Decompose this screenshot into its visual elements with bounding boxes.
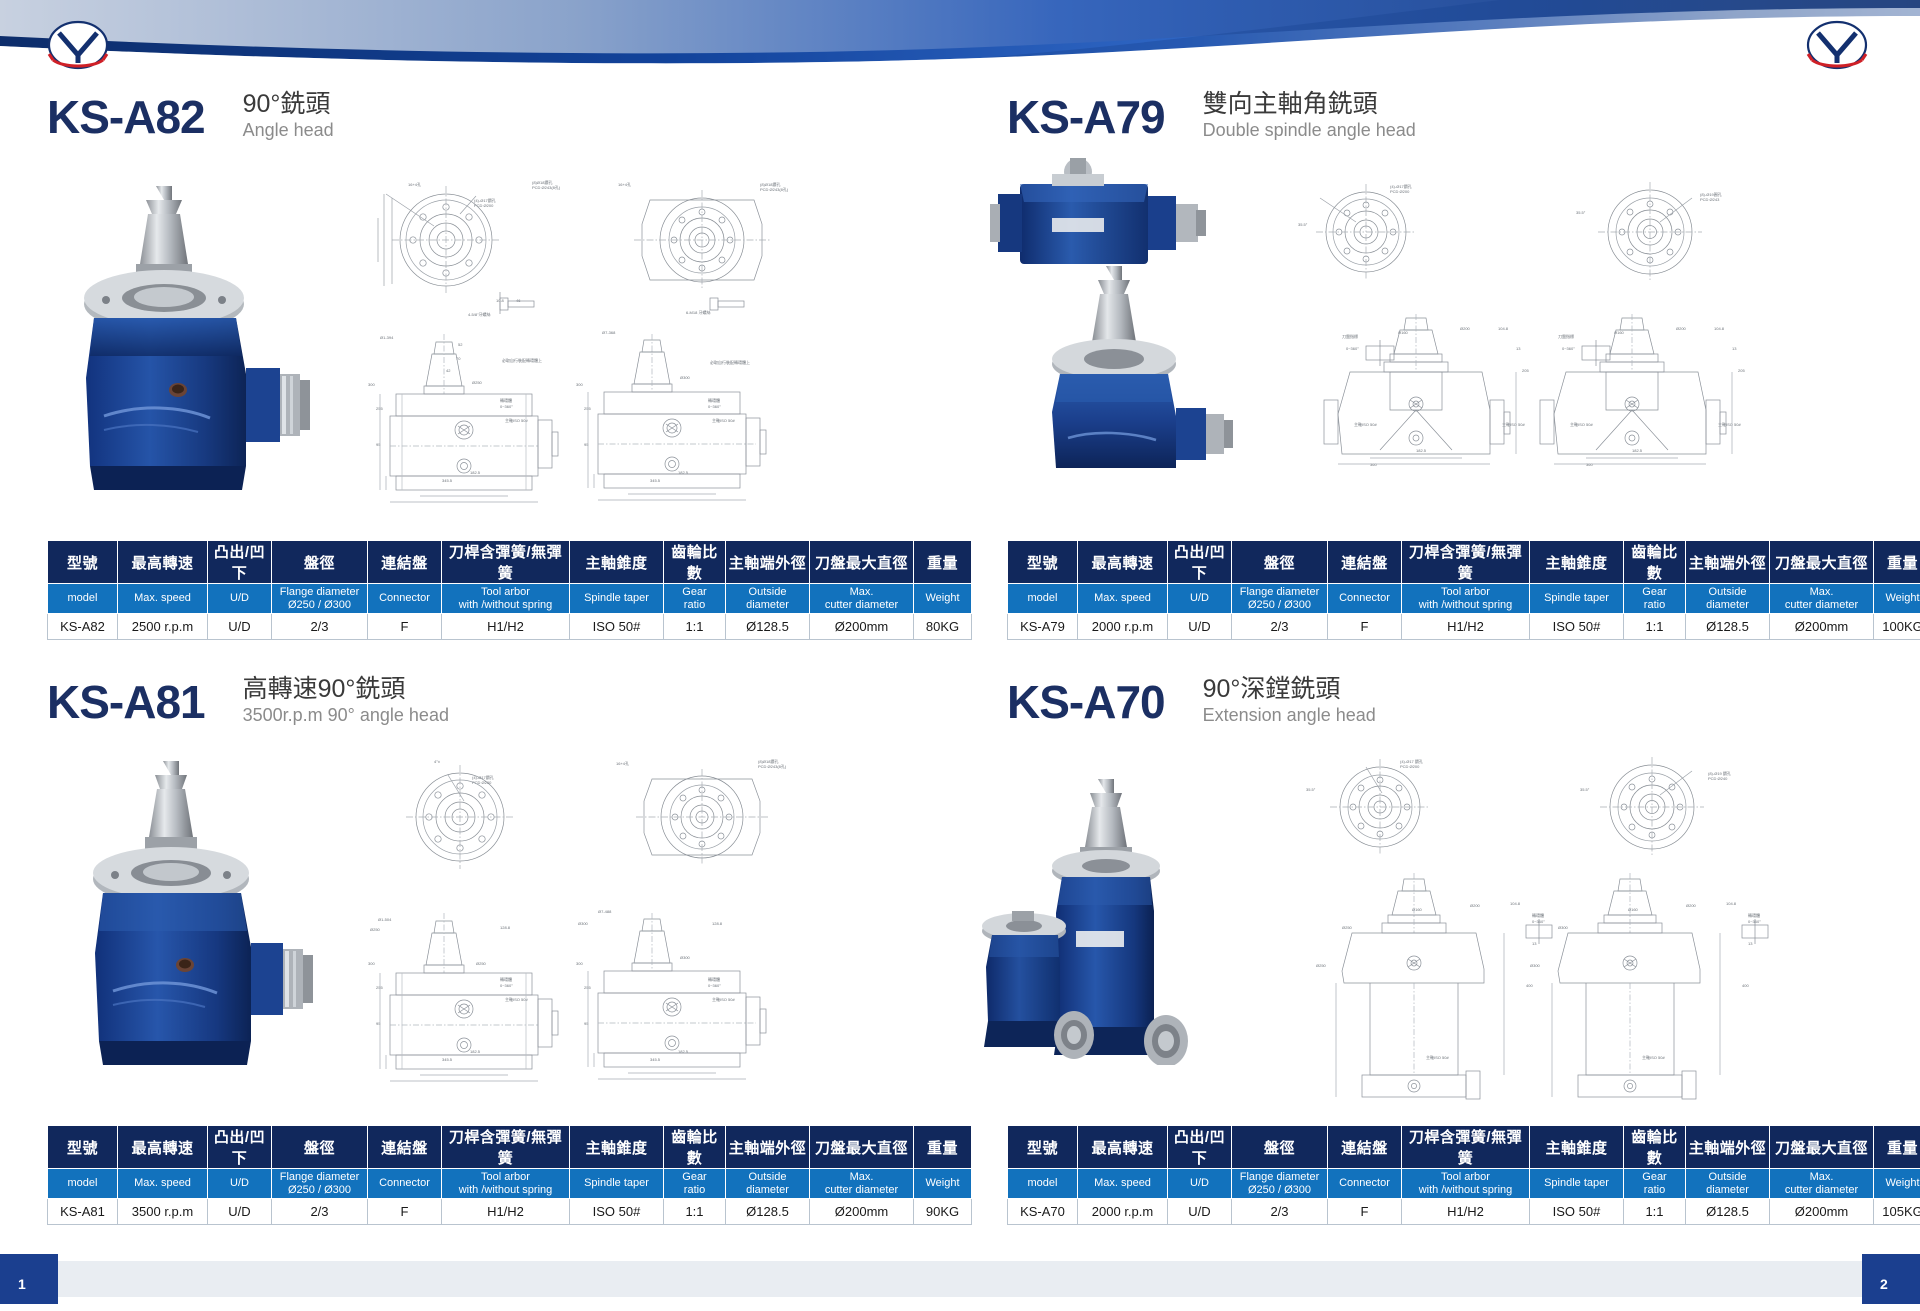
product-title-en: 3500r.p.m 90° angle head bbox=[243, 704, 449, 726]
th-en-ud: U/D bbox=[208, 584, 272, 614]
product-block-ks-a82: KS-A82 90°銑頭 Angle head bbox=[0, 78, 960, 663]
table-row: KS-A79 2000 r.p.m U/D 2/3 F H1/H2 ISO 50… bbox=[1008, 614, 1920, 640]
th-cn-outside: 主軸端外徑 bbox=[726, 541, 810, 584]
td-outside: Ø128.5 bbox=[1686, 614, 1770, 640]
svg-text:13: 13 bbox=[1748, 941, 1753, 946]
technical-drawing-ks-a81: 4°± (4)-Ø17鑽孔 PCD Ø200 16+4孔 (8)Ø18鑽孔 PC… bbox=[350, 753, 930, 1123]
svg-text:400: 400 bbox=[1526, 983, 1533, 988]
product-title-ks-a70: KS-A70 90°深鏜銑頭 Extension angle head bbox=[1007, 675, 1376, 728]
svg-text:0~360°: 0~360° bbox=[1346, 346, 1359, 351]
svg-text:0~360°: 0~360° bbox=[1562, 346, 1575, 351]
product-title-ks-a81: KS-A81 高轉速90°銑頭 3500r.p.m 90° angle head bbox=[47, 675, 449, 728]
svg-text:360: 360 bbox=[1370, 462, 1377, 467]
technical-drawing-ks-a82: 16+4孔 (8)Ø18鑽孔 PCD Ø243(8孔) (4)-Ø17鑽孔 PC… bbox=[350, 174, 930, 544]
page-header-banner bbox=[0, 0, 1920, 74]
svg-text:35.5°: 35.5° bbox=[1576, 210, 1586, 215]
svg-text:PCD Ø243: PCD Ø243 bbox=[1700, 197, 1720, 202]
svg-text:Ø200: Ø200 bbox=[1460, 326, 1471, 331]
svg-text:42: 42 bbox=[446, 368, 451, 373]
svg-text:345.5: 345.5 bbox=[650, 478, 661, 483]
th-cn-outside: 主軸端外徑 bbox=[1686, 541, 1770, 584]
product-title-ks-a82: KS-A82 90°銑頭 Angle head bbox=[47, 90, 334, 143]
product-title-ks-a79: KS-A79 雙向主軸角銑頭 Double spindle angle head bbox=[1007, 90, 1416, 143]
product-title-cn: 雙向主軸角銑頭 bbox=[1203, 90, 1416, 119]
th-en-gear: Gear ratio bbox=[664, 584, 726, 614]
svg-text:52: 52 bbox=[458, 342, 463, 347]
product-code: KS-A81 bbox=[47, 676, 205, 728]
th-cn-flange: 盤徑 bbox=[272, 541, 368, 584]
svg-text:35.5°: 35.5° bbox=[1306, 787, 1316, 792]
product-block-ks-a81: KS-A81 高轉速90°銑頭 3500r.p.m 90° angle head bbox=[0, 663, 960, 1248]
td-connector: F bbox=[1328, 1199, 1402, 1225]
th-cn-model: 型號 bbox=[48, 1126, 118, 1169]
svg-text:Ø1-394: Ø1-394 bbox=[380, 335, 394, 340]
spec-table-ks-a81: 型號 最高轉速 凸出/凹下 盤徑 連結盤 刀桿含彈簧/無彈簧 主軸錐度 齒輪比數… bbox=[47, 1125, 972, 1225]
th-cn-taper: 主軸錐度 bbox=[570, 541, 664, 584]
td-arbor: H1/H2 bbox=[442, 1199, 570, 1225]
svg-text:主軸ISO 50#: 主軸ISO 50# bbox=[1718, 421, 1741, 427]
svg-text:95: 95 bbox=[376, 442, 381, 447]
table-header-cn: 型號 最高轉速 凸出/凹下 盤徑 連結盤 刀桿含彈簧/無彈簧 主軸錐度 齒輪比數… bbox=[48, 541, 972, 584]
td-arbor: H1/H2 bbox=[442, 614, 570, 640]
svg-text:Ø250: Ø250 bbox=[472, 380, 483, 385]
svg-text:182.5: 182.5 bbox=[1632, 448, 1643, 453]
td-outside: Ø128.5 bbox=[726, 1199, 810, 1225]
product-title-en: Extension angle head bbox=[1203, 704, 1376, 726]
th-en-taper: Spindle taper bbox=[570, 1169, 664, 1199]
footer-tab-left bbox=[0, 1254, 58, 1304]
td-model: KS-A70 bbox=[1008, 1199, 1078, 1225]
th-cn-speed: 最高轉速 bbox=[118, 541, 208, 584]
th-en-weight: Weight bbox=[1874, 584, 1920, 614]
td-flange: 2/3 bbox=[272, 614, 368, 640]
spec-table-ks-a79: 型號 最高轉速 凸出/凹下 盤徑 連結盤 刀桿含彈簧/無彈簧 主軸錐度 齒輪比數… bbox=[1007, 540, 1920, 640]
svg-text:轉環體: 轉環體 bbox=[1532, 912, 1544, 918]
th-cn-model: 型號 bbox=[48, 541, 118, 584]
th-cn-gear: 齒輪比數 bbox=[1624, 541, 1686, 584]
svg-text:PCD Ø240: PCD Ø240 bbox=[1708, 776, 1728, 781]
th-cn-cutter: 刀盤最大直徑 bbox=[810, 1126, 914, 1169]
td-connector: F bbox=[368, 1199, 442, 1225]
svg-text:必取自行裝配轉環體上: 必取自行裝配轉環體上 bbox=[710, 359, 750, 365]
svg-text:0~360°: 0~360° bbox=[500, 983, 513, 988]
td-cutter: Ø200mm bbox=[810, 614, 914, 640]
th-en-ud: U/D bbox=[208, 1169, 272, 1199]
spec-table-ks-a82: 型號 最高轉速 凸出/凹下 盤徑 連結盤 刀桿含彈簧/無彈簧 主軸錐度 齒輪比數… bbox=[47, 540, 972, 640]
th-cn-speed: 最高轉速 bbox=[1078, 1126, 1168, 1169]
svg-text:主軸ISO 50#: 主軸ISO 50# bbox=[1426, 1054, 1449, 1060]
th-en-arbor: Tool arbor with /without spring bbox=[1402, 584, 1530, 614]
td-ud: U/D bbox=[208, 614, 272, 640]
svg-text:PCD Ø243(8孔): PCD Ø243(8孔) bbox=[532, 184, 561, 190]
th-en-outside: Outside diameter bbox=[1686, 1169, 1770, 1199]
svg-text:Ø1-504: Ø1-504 bbox=[378, 917, 392, 922]
th-en-taper: Spindle taper bbox=[1530, 1169, 1624, 1199]
product-photo-ks-a81 bbox=[75, 755, 355, 1085]
svg-text:0~360°: 0~360° bbox=[1532, 919, 1545, 924]
td-outside: Ø128.5 bbox=[1686, 1199, 1770, 1225]
svg-text:Ø160: Ø160 bbox=[1628, 907, 1639, 912]
td-cutter: Ø200mm bbox=[1770, 614, 1874, 640]
svg-text:刀盤指標: 刀盤指標 bbox=[1558, 333, 1574, 339]
svg-text:主軸ISO 50#: 主軸ISO 50# bbox=[1502, 421, 1525, 427]
svg-text:Ø250: Ø250 bbox=[1342, 925, 1353, 930]
th-cn-arbor: 刀桿含彈簧/無彈簧 bbox=[442, 541, 570, 584]
th-en-gear: Gear ratio bbox=[664, 1169, 726, 1199]
th-en-outside: Outside diameter bbox=[1686, 584, 1770, 614]
svg-text:345.5: 345.5 bbox=[650, 1057, 661, 1062]
td-gear: 1:1 bbox=[1624, 1199, 1686, 1225]
product-code: KS-A79 bbox=[1007, 91, 1165, 143]
td-outside: Ø128.5 bbox=[726, 614, 810, 640]
product-photo-ks-a79 bbox=[990, 150, 1270, 480]
th-en-outside: Outside diameter bbox=[726, 584, 810, 614]
svg-text:35.5°: 35.5° bbox=[1580, 787, 1590, 792]
svg-text:300: 300 bbox=[368, 382, 375, 387]
svg-text:主軸ISO 50#: 主軸ISO 50# bbox=[505, 417, 528, 423]
th-en-model: model bbox=[48, 584, 118, 614]
svg-text:16+4孔: 16+4孔 bbox=[616, 760, 629, 766]
table-header-en: model Max. speed U/D Flange diameter Ø25… bbox=[48, 584, 972, 614]
svg-text:主軸ISO 50#: 主軸ISO 50# bbox=[1570, 421, 1593, 427]
th-cn-connector: 連結盤 bbox=[1328, 541, 1402, 584]
svg-text:95: 95 bbox=[584, 442, 589, 447]
td-ud: U/D bbox=[1168, 614, 1232, 640]
th-en-weight: Weight bbox=[1874, 1169, 1920, 1199]
svg-text:轉環體: 轉環體 bbox=[708, 976, 720, 982]
th-en-cutter: Max. cutter diameter bbox=[1770, 584, 1874, 614]
svg-text:PCD Ø200: PCD Ø200 bbox=[1390, 189, 1410, 194]
svg-text:主軸ISO 50#: 主軸ISO 50# bbox=[712, 996, 735, 1002]
td-cutter: Ø200mm bbox=[1770, 1199, 1874, 1225]
footer-bar bbox=[0, 1261, 1920, 1297]
svg-text:95: 95 bbox=[584, 1021, 589, 1026]
footer-tab-right bbox=[1862, 1254, 1920, 1304]
td-flange: 2/3 bbox=[272, 1199, 368, 1225]
svg-text:刀盤指標: 刀盤指標 bbox=[1342, 333, 1358, 339]
svg-text:Ø7-368: Ø7-368 bbox=[602, 330, 616, 335]
svg-text:4°±: 4°± bbox=[434, 759, 441, 764]
td-model: KS-A79 bbox=[1008, 614, 1078, 640]
svg-text:104.8: 104.8 bbox=[1726, 901, 1737, 906]
th-cn-gear: 齒輪比數 bbox=[664, 1126, 726, 1169]
svg-text:182.5: 182.5 bbox=[470, 1049, 481, 1054]
product-title-en: Double spindle angle head bbox=[1203, 119, 1416, 141]
svg-text:Ø160: Ø160 bbox=[1412, 907, 1423, 912]
th-en-ud: U/D bbox=[1168, 584, 1232, 614]
th-cn-arbor: 刀桿含彈簧/無彈簧 bbox=[442, 1126, 570, 1169]
svg-text:400: 400 bbox=[1742, 983, 1749, 988]
th-cn-arbor: 刀桿含彈簧/無彈簧 bbox=[1402, 541, 1530, 584]
svg-text:Ø200: Ø200 bbox=[1686, 903, 1697, 908]
svg-text:104.8: 104.8 bbox=[1510, 901, 1521, 906]
th-en-cutter: Max. cutter diameter bbox=[810, 584, 914, 614]
th-en-cutter: Max. cutter diameter bbox=[1770, 1169, 1874, 1199]
product-block-ks-a70: KS-A70 90°深鏜銑頭 Extension angle head bbox=[960, 663, 1920, 1248]
td-weight: 100KG bbox=[1874, 614, 1920, 640]
th-cn-weight: 重量 bbox=[1874, 541, 1920, 584]
svg-text:300: 300 bbox=[576, 382, 583, 387]
svg-text:345.5: 345.5 bbox=[442, 1057, 453, 1062]
svg-text:Ø300: Ø300 bbox=[680, 955, 691, 960]
svg-text:PCD Ø200: PCD Ø200 bbox=[474, 203, 494, 208]
th-en-speed: Max. speed bbox=[1078, 584, 1168, 614]
th-cn-ud: 凸出/凹下 bbox=[208, 541, 272, 584]
th-cn-flange: 盤徑 bbox=[1232, 541, 1328, 584]
td-gear: 1:1 bbox=[664, 1199, 726, 1225]
product-title-cn: 高轉速90°銑頭 bbox=[243, 675, 449, 704]
th-en-model: model bbox=[1008, 1169, 1078, 1199]
th-cn-model: 型號 bbox=[1008, 1126, 1078, 1169]
svg-text:104.8: 104.8 bbox=[1498, 326, 1509, 331]
td-arbor: H1/H2 bbox=[1402, 1199, 1530, 1225]
svg-text:205: 205 bbox=[1738, 368, 1745, 373]
svg-text:13: 13 bbox=[1516, 346, 1521, 351]
th-en-model: model bbox=[48, 1169, 118, 1199]
svg-text:轉環體: 轉環體 bbox=[500, 397, 512, 403]
svg-text:13: 13 bbox=[1732, 346, 1737, 351]
svg-text:Ø250: Ø250 bbox=[476, 961, 487, 966]
td-speed: 3500 r.p.m bbox=[118, 1199, 208, 1225]
product-photo-ks-a82 bbox=[60, 178, 340, 508]
table-row: KS-A81 3500 r.p.m U/D 2/3 F H1/H2 ISO 50… bbox=[48, 1199, 972, 1225]
svg-text:182.5: 182.5 bbox=[1416, 448, 1427, 453]
td-arbor: H1/H2 bbox=[1402, 614, 1530, 640]
th-cn-taper: 主軸錐度 bbox=[1530, 541, 1624, 584]
td-ud: U/D bbox=[208, 1199, 272, 1225]
svg-text:轉環體: 轉環體 bbox=[1748, 912, 1760, 918]
table-row: KS-A82 2500 r.p.m U/D 2/3 F H1/H2 ISO 50… bbox=[48, 614, 972, 640]
product-code: KS-A70 bbox=[1007, 676, 1165, 728]
td-gear: 1:1 bbox=[1624, 614, 1686, 640]
svg-text:182.5: 182.5 bbox=[470, 470, 481, 475]
th-en-arbor: Tool arbor with /without spring bbox=[442, 584, 570, 614]
svg-text:95: 95 bbox=[376, 1021, 381, 1026]
svg-text:0~360°: 0~360° bbox=[708, 404, 721, 409]
product-code: KS-A82 bbox=[47, 91, 205, 143]
th-en-connector: Connector bbox=[368, 1169, 442, 1199]
table-header-en: model Max. speed U/D Flange diameter Ø25… bbox=[48, 1169, 972, 1199]
th-en-flange: Flange diameter Ø250 / Ø300 bbox=[1232, 1169, 1328, 1199]
product-block-ks-a79: KS-A79 雙向主軸角銑頭 Double spindle angle head bbox=[960, 78, 1920, 663]
th-cn-flange: 盤徑 bbox=[272, 1126, 368, 1169]
th-en-flange: Flange diameter Ø250 / Ø300 bbox=[272, 584, 368, 614]
page-number-left: 1 bbox=[18, 1276, 26, 1292]
th-cn-ud: 凸出/凹下 bbox=[1168, 1126, 1232, 1169]
th-cn-flange: 盤徑 bbox=[1232, 1126, 1328, 1169]
table-header-en: model Max. speed U/D Flange diameter Ø25… bbox=[1008, 1169, 1920, 1199]
svg-text:Ø250: Ø250 bbox=[370, 927, 381, 932]
td-speed: 2500 r.p.m bbox=[118, 614, 208, 640]
table-header-cn: 型號 最高轉速 凸出/凹下 盤徑 連結盤 刀桿含彈簧/無彈簧 主軸錐度 齒輪比數… bbox=[48, 1126, 972, 1169]
svg-text:0~360°: 0~360° bbox=[708, 983, 721, 988]
th-en-gear: Gear ratio bbox=[1624, 1169, 1686, 1199]
spec-table-ks-a70: 型號 最高轉速 凸出/凹下 盤徑 連結盤 刀桿含彈簧/無彈簧 主軸錐度 齒輪比數… bbox=[1007, 1125, 1920, 1225]
td-taper: ISO 50# bbox=[570, 1199, 664, 1225]
td-connector: F bbox=[368, 614, 442, 640]
td-taper: ISO 50# bbox=[570, 614, 664, 640]
svg-text:Ø200: Ø200 bbox=[1470, 903, 1481, 908]
td-flange: 2/3 bbox=[1232, 1199, 1328, 1225]
svg-text:300: 300 bbox=[368, 961, 375, 966]
th-cn-arbor: 刀桿含彈簧/無彈簧 bbox=[1402, 1126, 1530, 1169]
svg-text:轉環體: 轉環體 bbox=[708, 397, 720, 403]
th-en-flange: Flange diameter Ø250 / Ø300 bbox=[272, 1169, 368, 1199]
td-model: KS-A82 bbox=[48, 614, 118, 640]
td-taper: ISO 50# bbox=[1530, 614, 1624, 640]
th-cn-connector: 連結盤 bbox=[1328, 1126, 1402, 1169]
th-cn-taper: 主軸錐度 bbox=[1530, 1126, 1624, 1169]
th-cn-gear: 齒輪比數 bbox=[664, 541, 726, 584]
td-model: KS-A81 bbox=[48, 1199, 118, 1225]
svg-text:0~360°: 0~360° bbox=[1748, 919, 1761, 924]
svg-text:6-M18 牙螺絲: 6-M18 牙螺絲 bbox=[686, 309, 710, 315]
th-en-arbor: Tool arbor with /without spring bbox=[442, 1169, 570, 1199]
th-cn-cutter: 刀盤最大直徑 bbox=[1770, 1126, 1874, 1169]
svg-text:345.5: 345.5 bbox=[442, 478, 453, 483]
th-cn-taper: 主軸錐度 bbox=[570, 1126, 664, 1169]
th-en-gear: Gear ratio bbox=[1624, 584, 1686, 614]
th-cn-model: 型號 bbox=[1008, 541, 1078, 584]
svg-text:13: 13 bbox=[1532, 941, 1537, 946]
th-cn-ud: 凸出/凹下 bbox=[208, 1126, 272, 1169]
th-cn-cutter: 刀盤最大直徑 bbox=[1770, 541, 1874, 584]
th-en-connector: Connector bbox=[1328, 1169, 1402, 1199]
td-flange: 2/3 bbox=[1232, 614, 1328, 640]
th-en-connector: Connector bbox=[1328, 584, 1402, 614]
svg-text:16+4孔: 16+4孔 bbox=[408, 181, 421, 187]
td-speed: 2000 r.p.m bbox=[1078, 614, 1168, 640]
svg-text:104.8: 104.8 bbox=[1714, 326, 1725, 331]
td-speed: 2000 r.p.m bbox=[1078, 1199, 1168, 1225]
th-cn-outside: 主軸端外徑 bbox=[1686, 1126, 1770, 1169]
svg-text:35.5°: 35.5° bbox=[1298, 222, 1308, 227]
th-cn-gear: 齒輪比數 bbox=[1624, 1126, 1686, 1169]
svg-text:Ø300: Ø300 bbox=[1558, 925, 1569, 930]
th-en-taper: Spindle taper bbox=[570, 584, 664, 614]
th-en-model: model bbox=[1008, 584, 1078, 614]
svg-text:4-5/8"牙螺絲: 4-5/8"牙螺絲 bbox=[468, 311, 491, 317]
td-taper: ISO 50# bbox=[1530, 1199, 1624, 1225]
svg-text:Ø300: Ø300 bbox=[680, 375, 691, 380]
th-en-speed: Max. speed bbox=[118, 584, 208, 614]
th-en-cutter: Max. cutter diameter bbox=[810, 1169, 914, 1199]
svg-text:主軸ISO 50#: 主軸ISO 50# bbox=[1354, 421, 1377, 427]
th-cn-speed: 最高轉速 bbox=[1078, 541, 1168, 584]
product-photo-ks-a70 bbox=[980, 735, 1280, 1065]
svg-text:主軸ISO 50#: 主軸ISO 50# bbox=[712, 417, 735, 423]
svg-text:PCD Ø243(8孔): PCD Ø243(8孔) bbox=[758, 763, 787, 769]
th-en-arbor: Tool arbor with /without spring bbox=[1402, 1169, 1530, 1199]
svg-text:16+4孔: 16+4孔 bbox=[618, 181, 631, 187]
svg-text:128.8: 128.8 bbox=[500, 925, 511, 930]
svg-text:PCD Ø243(8孔): PCD Ø243(8孔) bbox=[760, 186, 789, 192]
th-cn-connector: 連結盤 bbox=[368, 1126, 442, 1169]
td-gear: 1:1 bbox=[664, 614, 726, 640]
table-header-en: model Max. speed U/D Flange diameter Ø25… bbox=[1008, 584, 1920, 614]
page-footer: 1 2 bbox=[0, 1248, 1920, 1311]
svg-text:主軸ISO 50#: 主軸ISO 50# bbox=[1642, 1054, 1665, 1060]
table-row: KS-A70 2000 r.p.m U/D 2/3 F H1/H2 ISO 50… bbox=[1008, 1199, 1920, 1225]
catalog-page: KS-A82 90°銑頭 Angle head bbox=[0, 0, 1920, 1311]
th-en-ud: U/D bbox=[1168, 1169, 1232, 1199]
svg-text:Ø300: Ø300 bbox=[1530, 963, 1541, 968]
svg-text:Ø250: Ø250 bbox=[1316, 963, 1327, 968]
td-weight: 105KG bbox=[1874, 1199, 1920, 1225]
th-en-speed: Max. speed bbox=[118, 1169, 208, 1199]
svg-text:Ø300: Ø300 bbox=[578, 921, 589, 926]
product-title-cn: 90°深鏜銑頭 bbox=[1203, 675, 1376, 704]
svg-text:主軸ISO 50#: 主軸ISO 50# bbox=[505, 996, 528, 1002]
page-number-right: 2 bbox=[1880, 1276, 1888, 1292]
svg-text:360: 360 bbox=[1586, 462, 1593, 467]
company-logo-left bbox=[47, 20, 109, 70]
th-cn-weight: 重量 bbox=[1874, 1126, 1920, 1169]
table-header-cn: 型號 最高轉速 凸出/凹下 盤徑 連結盤 刀桿含彈簧/無彈簧 主軸錐度 齒輪比數… bbox=[1008, 541, 1920, 584]
svg-text:PCD Ø200: PCD Ø200 bbox=[1400, 764, 1420, 769]
th-en-connector: Connector bbox=[368, 584, 442, 614]
technical-drawing-ks-a79: (4)-Ø17鑽孔 PCD Ø200 (8)-Ø19圓孔 PCD Ø243 35… bbox=[1270, 174, 1890, 544]
svg-text:Ø7-488: Ø7-488 bbox=[598, 909, 612, 914]
th-cn-outside: 主軸端外徑 bbox=[726, 1126, 810, 1169]
product-title-en: Angle head bbox=[243, 119, 334, 141]
svg-text:轉環體: 轉環體 bbox=[500, 976, 512, 982]
table-header-cn: 型號 最高轉速 凸出/凹下 盤徑 連結盤 刀桿含彈簧/無彈簧 主軸錐度 齒輪比數… bbox=[1008, 1126, 1920, 1169]
svg-text:0~360°: 0~360° bbox=[500, 404, 513, 409]
th-en-flange: Flange diameter Ø250 / Ø300 bbox=[1232, 584, 1328, 614]
svg-text:必取自行裝配轉環體上: 必取自行裝配轉環體上 bbox=[502, 357, 542, 363]
svg-text:Ø200: Ø200 bbox=[1676, 326, 1687, 331]
td-cutter: Ø200mm bbox=[810, 1199, 914, 1225]
svg-text:300: 300 bbox=[576, 961, 583, 966]
th-en-speed: Max. speed bbox=[1078, 1169, 1168, 1199]
th-en-taper: Spindle taper bbox=[1530, 584, 1624, 614]
th-cn-connector: 連結盤 bbox=[368, 541, 442, 584]
product-title-cn: 90°銑頭 bbox=[243, 90, 334, 119]
company-logo-right bbox=[1806, 20, 1868, 70]
td-connector: F bbox=[1328, 614, 1402, 640]
th-cn-ud: 凸出/凹下 bbox=[1168, 541, 1232, 584]
svg-text:46: 46 bbox=[516, 298, 521, 303]
td-ud: U/D bbox=[1168, 1199, 1232, 1225]
th-en-outside: Outside diameter bbox=[726, 1169, 810, 1199]
svg-text:128.8: 128.8 bbox=[712, 921, 723, 926]
th-cn-cutter: 刀盤最大直徑 bbox=[810, 541, 914, 584]
svg-text:205: 205 bbox=[1522, 368, 1529, 373]
technical-drawing-ks-a70: (4)-Ø17 鑽孔 PCD Ø200 (8)-Ø19 鑽孔 PCD Ø240 … bbox=[1280, 749, 1890, 1129]
th-cn-speed: 最高轉速 bbox=[118, 1126, 208, 1169]
